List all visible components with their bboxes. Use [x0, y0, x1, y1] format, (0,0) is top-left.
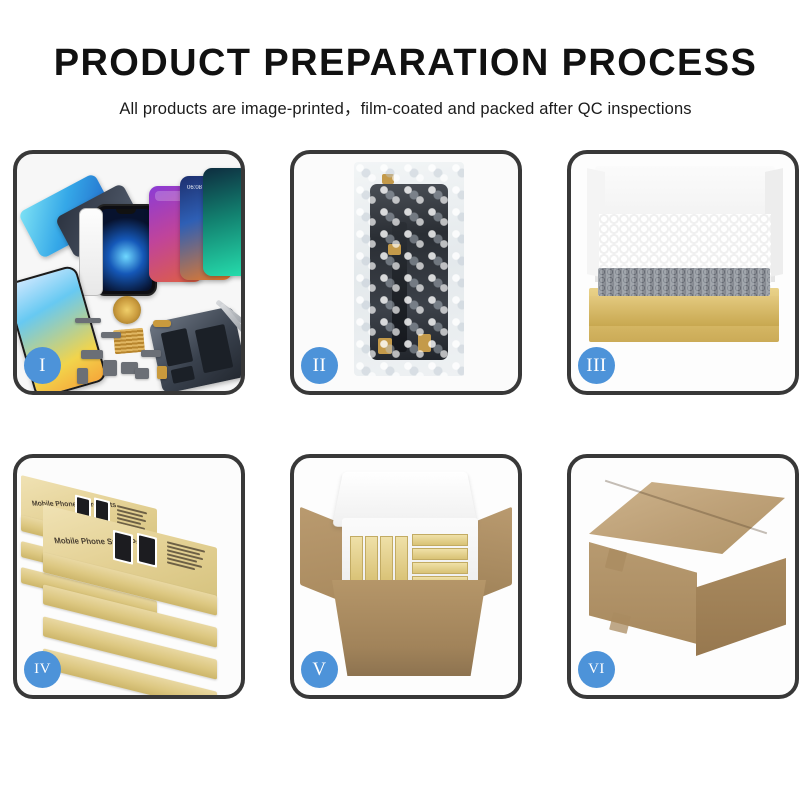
step-badge-5: V	[301, 651, 338, 688]
header: PRODUCT PREPARATION PROCESS All products…	[0, 0, 811, 119]
step-panel-3: III	[567, 150, 799, 395]
product-preparation-infographic: PRODUCT PREPARATION PROCESS All products…	[0, 0, 811, 811]
part-vibrator	[135, 368, 149, 379]
speaker-coil-part	[113, 296, 141, 324]
step-panel-6: VI	[567, 454, 799, 699]
phone-teal-gradient	[203, 168, 241, 276]
part-small-module	[103, 360, 117, 376]
part-ribbon	[101, 332, 121, 338]
gold-boxes-inside	[350, 530, 470, 586]
carton-body	[332, 580, 486, 676]
part-antenna-cable	[141, 350, 161, 357]
part-gold-clip	[157, 366, 167, 379]
step-panel-1: 06:08	[13, 150, 245, 395]
process-steps-grid: 06:08	[13, 150, 799, 744]
part-gold-connector	[153, 320, 171, 327]
step-panel-4: Mobile Phone Spare Parts Mobile Phone Sp…	[13, 454, 245, 699]
step-badge-2: II	[301, 347, 338, 384]
step-badge-1: I	[24, 347, 61, 384]
bubble-wrap-bag	[354, 162, 464, 376]
page-title: PRODUCT PREPARATION PROCESS	[0, 44, 811, 84]
phone-black-front	[95, 204, 157, 296]
tempered-glass-sheet	[79, 208, 103, 296]
step-panel-5: V	[290, 454, 522, 699]
part-flex-cable	[81, 350, 103, 359]
carton-front-face	[589, 542, 697, 644]
step-badge-3: III	[578, 347, 615, 384]
carton-side-face	[696, 558, 786, 656]
part-sim-tray	[77, 368, 88, 384]
carton-top-face	[589, 482, 785, 554]
step-badge-4: IV	[24, 651, 61, 688]
gold-box-tray	[589, 288, 779, 342]
step-panel-2: II	[290, 150, 522, 395]
step-badge-6: VI	[578, 651, 615, 688]
part-strip	[75, 318, 101, 323]
page-subtitle: All products are image-printed，film-coat…	[0, 95, 811, 119]
carton-tape-lower	[609, 612, 631, 634]
